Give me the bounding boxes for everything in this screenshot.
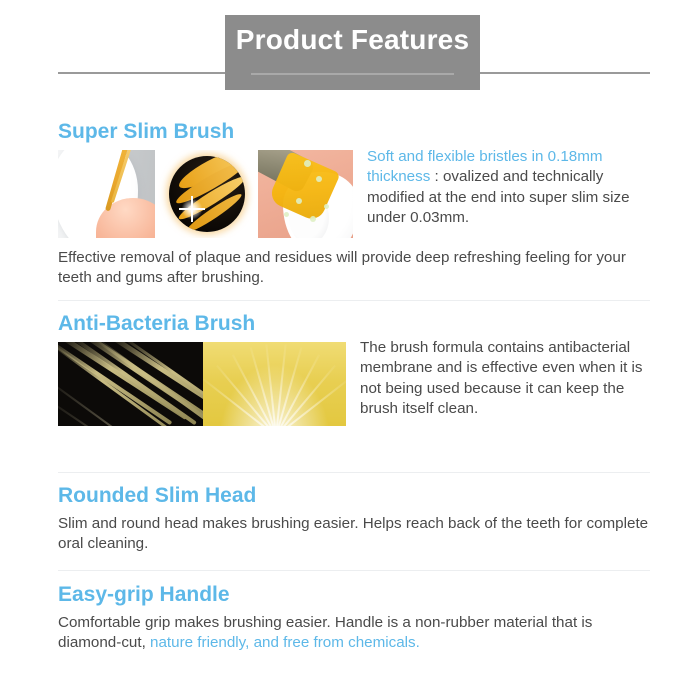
feature-title-super-slim-brush: Super Slim Brush bbox=[58, 120, 650, 144]
feature-4-highlight: nature friendly, and free from chemicals… bbox=[150, 634, 420, 651]
header-banner: Product Features bbox=[225, 15, 480, 90]
yellow-bristle-closeup-photo bbox=[203, 342, 346, 426]
section-divider bbox=[58, 300, 650, 301]
section-divider bbox=[58, 472, 650, 473]
bristle-fiber bbox=[59, 342, 188, 420]
page-header: Product Features bbox=[0, 0, 684, 100]
page-title: Product Features bbox=[236, 26, 469, 54]
feature-1-content-row: Soft and flexible bristles in 0.18mm thi… bbox=[58, 150, 650, 238]
feature-1-image-strip bbox=[58, 150, 353, 238]
feature-section-super-slim-brush: Super Slim Brush bbox=[58, 120, 650, 289]
feature-section-anti-bacteria-brush: Anti-Bacteria Brush bbox=[58, 312, 650, 426]
feature-title-rounded-slim-head: Rounded Slim Head bbox=[58, 484, 650, 508]
brushing-teeth-photo bbox=[258, 150, 353, 238]
feature-2-side-text: The brush formula contains antibacterial… bbox=[346, 338, 650, 419]
header-banner-underline bbox=[251, 73, 454, 75]
feature-4-description: Comfortable grip makes brushing easier. … bbox=[58, 613, 650, 653]
feature-1-side-text: Soft and flexible bristles in 0.18mm thi… bbox=[353, 147, 650, 228]
feature-1-below-text: Effective removal of plaque and residues… bbox=[58, 248, 650, 288]
product-features-page: Product Features Super Slim Brush bbox=[0, 0, 684, 684]
feature-title-anti-bacteria-brush: Anti-Bacteria Brush bbox=[58, 312, 650, 336]
dark-bristle-fibers-photo bbox=[58, 342, 203, 426]
bristle-cross-section-photo bbox=[158, 150, 255, 238]
feature-2-content-row: The brush formula contains antibacterial… bbox=[58, 342, 650, 426]
feature-3-description: Slim and round head makes brushing easie… bbox=[58, 514, 650, 554]
feature-section-easy-grip-handle: Easy-grip Handle Comfortable grip makes … bbox=[58, 583, 650, 654]
tooth-and-bristle-photo bbox=[58, 150, 155, 238]
bristle-sphere bbox=[169, 156, 245, 232]
feature-section-rounded-slim-head: Rounded Slim Head Slim and round head ma… bbox=[58, 484, 650, 555]
feature-1-description: Soft and flexible bristles in 0.18mm thi… bbox=[367, 147, 650, 228]
feature-2-image-strip bbox=[58, 342, 346, 426]
sparkle-icon bbox=[180, 197, 204, 221]
feature-2-description: The brush formula contains antibacterial… bbox=[360, 338, 650, 419]
feature-title-easy-grip-handle: Easy-grip Handle bbox=[58, 583, 650, 607]
section-divider bbox=[58, 570, 650, 571]
